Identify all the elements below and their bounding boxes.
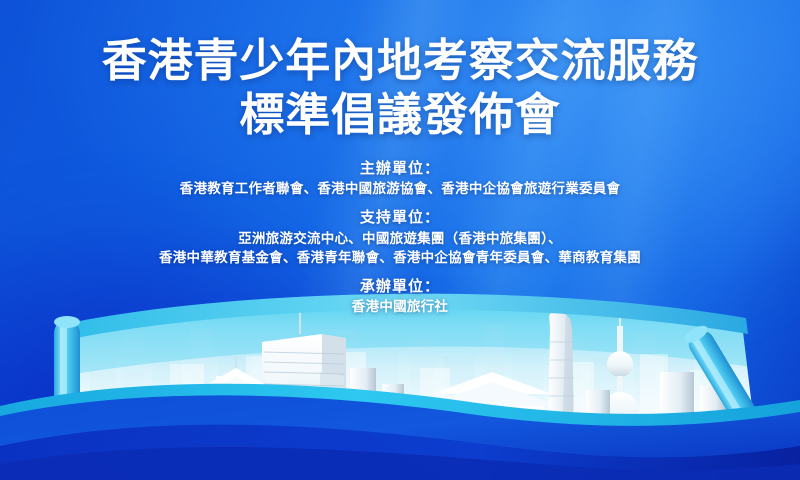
supporter-line-1: 亞洲旅游交流中心、中國旅遊集團（香港中旅集團）、: [0, 229, 800, 248]
poster-text-block: 香港青少年內地考察交流服務 標準倡議發佈會 主辦單位： 香港教育工作者聯會、香港…: [0, 0, 800, 316]
poster-canvas: 香港青少年內地考察交流服務 標準倡議發佈會 主辦單位： 香港教育工作者聯會、香港…: [0, 0, 800, 480]
credit-group-organizer: 主辦單位： 香港教育工作者聯會、香港中國旅游協會、香港中企協會旅遊行業委員會: [0, 158, 800, 198]
executor-label: 承辦單位：: [0, 276, 800, 297]
poster-title: 香港青少年內地考察交流服務 標準倡議發佈會: [0, 0, 800, 141]
credits-block: 主辦單位： 香港教育工作者聯會、香港中國旅游協會、香港中企協會旅遊行業委員會 支…: [0, 158, 800, 317]
supporter-line-2: 香港中華教育基金會、香港青年聯會、香港中企協會青年委員會、華商教育集團: [0, 248, 800, 267]
organizer-line-1: 香港教育工作者聯會、香港中國旅游協會、香港中企協會旅遊行業委員會: [0, 179, 800, 198]
supporter-label: 支持單位：: [0, 207, 800, 228]
credit-spacer-1: [0, 198, 800, 207]
bottom-wave-decoration: [0, 360, 800, 480]
title-line-1: 香港青少年內地考察交流服務: [0, 0, 800, 86]
credit-group-supporter: 支持單位： 亞洲旅游交流中心、中國旅遊集團（香港中旅集團）、 香港中華教育基金會…: [0, 207, 800, 267]
credit-group-executor: 承辦單位： 香港中國旅行社: [0, 276, 800, 316]
credit-spacer-2: [0, 267, 800, 276]
executor-line-1: 香港中國旅行社: [0, 297, 800, 316]
organizer-label: 主辦單位：: [0, 158, 800, 179]
title-line-2: 標準倡議發佈會: [0, 86, 800, 140]
